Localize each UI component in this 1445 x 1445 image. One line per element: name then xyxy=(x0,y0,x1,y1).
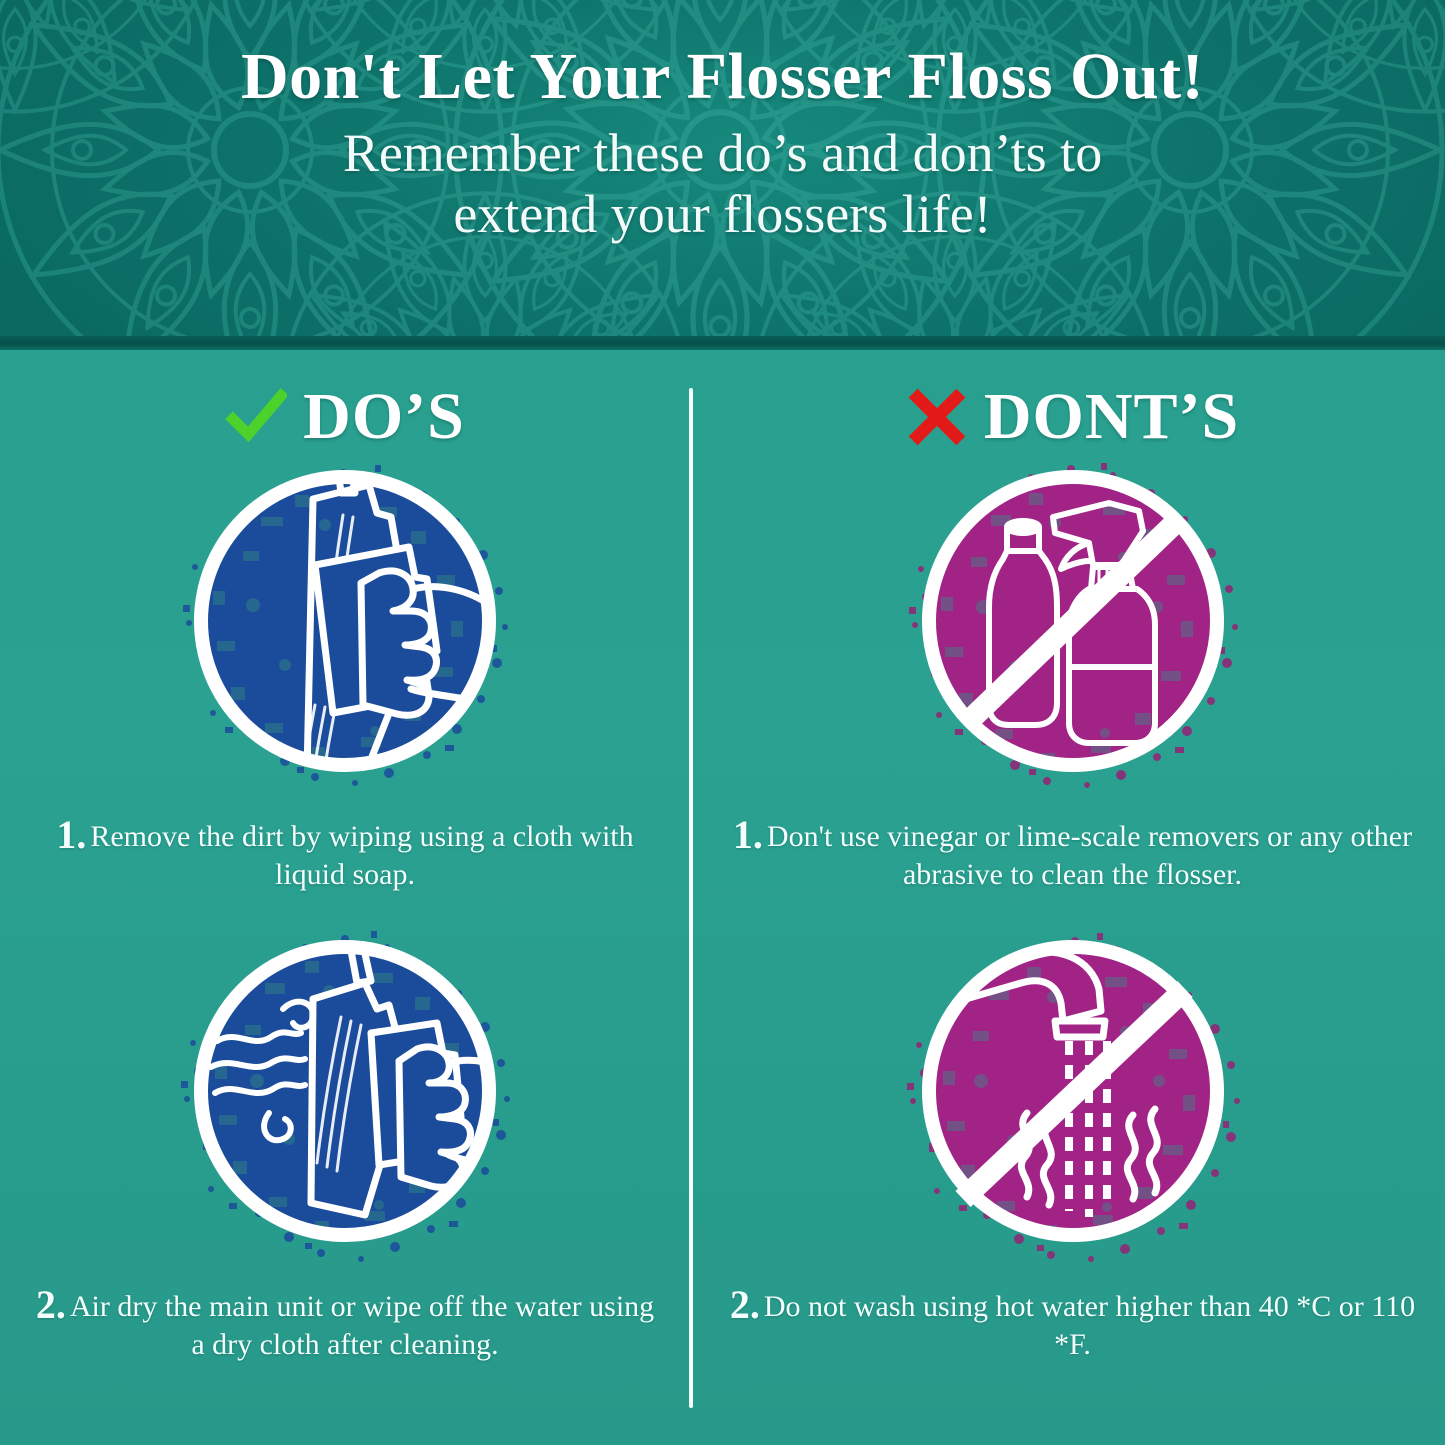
page-subtitle-line-1: Remember these do’s and don’ts to xyxy=(343,123,1102,183)
donts-column: DONT’S xyxy=(700,350,1445,1445)
donts-item-2-text: Do not wash using hot water higher than … xyxy=(764,1290,1415,1361)
no-cleaning-bottles-and-spray-icon xyxy=(893,455,1253,803)
page-subtitle: Remember these do’s and don’ts to extend… xyxy=(343,123,1102,244)
header-banner: Don't Let Your Flosser Floss Out! Rememb… xyxy=(0,0,1445,350)
check-icon xyxy=(225,386,287,448)
dos-item-1-text: Remove the dirt by wiping using a cloth … xyxy=(90,820,633,891)
dos-item-1: 1.Remove the dirt by wiping using a clot… xyxy=(0,455,690,894)
donts-item-2: 2.Do not wash using hot water higher tha… xyxy=(700,925,1445,1364)
dos-item-2: 2.Air dry the main unit or wipe off the … xyxy=(0,925,690,1364)
dos-item-1-number: 1. xyxy=(56,812,90,857)
donts-column-header: DONT’S xyxy=(700,378,1445,456)
dos-item-2-caption: 2.Air dry the main unit or wipe off the … xyxy=(35,1273,655,1364)
donts-item-1-illustration xyxy=(893,455,1253,803)
no-hot-water-faucet-icon xyxy=(893,925,1253,1273)
infographic-poster: Don't Let Your Flosser Floss Out! Rememb… xyxy=(0,0,1445,1445)
dos-item-2-number: 2. xyxy=(36,1282,70,1327)
dos-column: DO’S xyxy=(0,350,690,1445)
page-subtitle-line-2: extend your flossers life! xyxy=(343,184,1102,244)
dos-heading: DO’S xyxy=(303,384,465,450)
donts-item-2-number: 2. xyxy=(730,1282,764,1327)
donts-item-1-number: 1. xyxy=(733,812,767,857)
donts-item-2-illustration xyxy=(893,925,1253,1273)
dos-item-2-illustration xyxy=(165,925,525,1273)
page-title: Don't Let Your Flosser Floss Out! xyxy=(241,42,1204,111)
air-drying-flosser-icon xyxy=(165,925,525,1273)
dos-column-header: DO’S xyxy=(0,378,690,456)
cross-icon xyxy=(906,386,968,448)
donts-heading: DONT’S xyxy=(984,384,1239,450)
donts-item-1-caption: 1.Don't use vinegar or lime-scale remove… xyxy=(723,803,1423,894)
dos-item-2-text: Air dry the main unit or wipe off the wa… xyxy=(70,1290,654,1361)
content-area: DO’S xyxy=(0,350,1445,1445)
hand-wiping-flosser-with-cloth-icon xyxy=(165,455,525,803)
donts-item-2-caption: 2.Do not wash using hot water higher tha… xyxy=(723,1273,1423,1364)
dos-item-1-illustration xyxy=(165,455,525,803)
donts-item-1: 1.Don't use vinegar or lime-scale remove… xyxy=(700,455,1445,894)
donts-item-1-text: Don't use vinegar or lime-scale removers… xyxy=(767,820,1412,891)
dos-item-1-caption: 1.Remove the dirt by wiping using a clot… xyxy=(35,803,655,894)
